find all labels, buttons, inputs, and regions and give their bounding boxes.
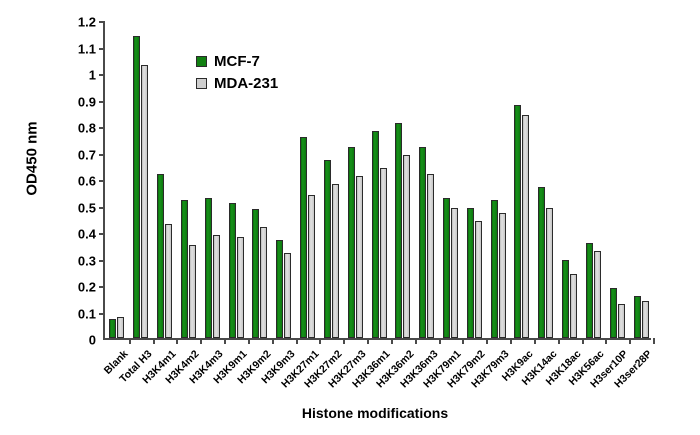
- bar-group: [324, 22, 339, 338]
- legend-label: MCF-7: [214, 53, 260, 70]
- bar-mcf7: [562, 260, 569, 338]
- bar-group: [419, 22, 434, 338]
- bar-mda231: [403, 155, 410, 338]
- bar-group: [181, 22, 196, 338]
- bar-mda231: [427, 174, 434, 338]
- x-axis-title: Histone modifications: [240, 405, 510, 421]
- bar-mda231: [308, 195, 315, 338]
- bar-group: [443, 22, 458, 338]
- y-tick-mark: [99, 180, 105, 182]
- y-tick-mark: [99, 21, 105, 23]
- x-axis-labels: BlankTotal H3H3K4m1H3K4m2H3K4m3H3K9m1H3K…: [103, 348, 651, 408]
- gray-square-icon: [196, 78, 207, 89]
- bar-mcf7: [181, 200, 188, 338]
- chart-legend: MCF-7MDA-231: [196, 50, 278, 94]
- bar-mda231: [380, 168, 387, 338]
- bar-mda231: [141, 65, 148, 338]
- bar-mda231: [451, 208, 458, 338]
- bar-group: [276, 22, 291, 338]
- bar-group: [586, 22, 601, 338]
- plot-area: 1.21.110.90.80.70.60.50.40.30.20.10: [103, 22, 651, 340]
- bars-container: [105, 22, 651, 338]
- y-tick-mark: [99, 313, 105, 315]
- bar-mcf7: [372, 131, 379, 338]
- bar-group: [133, 22, 148, 338]
- y-tick-mark: [99, 101, 105, 103]
- y-tick-mark: [99, 286, 105, 288]
- y-tick-mark: [99, 127, 105, 129]
- bar-group: [300, 22, 315, 338]
- bar-group: [348, 22, 363, 338]
- bar-mcf7: [300, 137, 307, 338]
- bar-mda231: [332, 184, 339, 338]
- bar-group: [395, 22, 410, 338]
- legend-label: MDA-231: [214, 75, 278, 92]
- bar-mcf7: [157, 174, 164, 338]
- bar-mcf7: [205, 198, 212, 338]
- y-tick-mark: [99, 154, 105, 156]
- bar-mcf7: [514, 105, 521, 338]
- bar-mda231: [165, 224, 172, 338]
- y-tick-mark: [99, 233, 105, 235]
- bar-mcf7: [348, 147, 355, 338]
- bar-group: [514, 22, 529, 338]
- bar-mcf7: [324, 160, 331, 338]
- y-axis-title: OD450 nm: [24, 89, 41, 229]
- bar-group: [157, 22, 172, 338]
- bar-chart: OD450 nm 1.21.110.90.80.70.60.50.40.30.2…: [0, 0, 700, 435]
- bar-mcf7: [109, 319, 116, 338]
- y-tick-mark: [99, 207, 105, 209]
- bar-mda231: [117, 317, 124, 338]
- bar-mcf7: [538, 187, 545, 338]
- bar-mda231: [356, 176, 363, 338]
- bar-mcf7: [133, 36, 140, 338]
- bar-group: [467, 22, 482, 338]
- bar-group: [634, 22, 649, 338]
- bar-group: [491, 22, 506, 338]
- y-tick-mark: [99, 48, 105, 50]
- bar-mcf7: [276, 240, 283, 338]
- bar-group: [538, 22, 553, 338]
- y-tick-mark: [99, 74, 105, 76]
- bar-group: [610, 22, 625, 338]
- green-square-icon: [196, 56, 207, 67]
- bar-group: [562, 22, 577, 338]
- bar-mda231: [499, 213, 506, 338]
- bar-mda231: [546, 208, 553, 338]
- bar-mcf7: [395, 123, 402, 338]
- bar-mcf7: [229, 203, 236, 338]
- legend-item: MDA-231: [196, 72, 278, 94]
- bar-group: [109, 22, 124, 338]
- y-tick-mark: [99, 260, 105, 262]
- bar-mcf7: [419, 147, 426, 338]
- bar-group: [372, 22, 387, 338]
- y-tick-label: 0: [89, 333, 105, 348]
- legend-item: MCF-7: [196, 50, 278, 72]
- bar-mcf7: [252, 209, 259, 338]
- bar-mda231: [522, 115, 529, 338]
